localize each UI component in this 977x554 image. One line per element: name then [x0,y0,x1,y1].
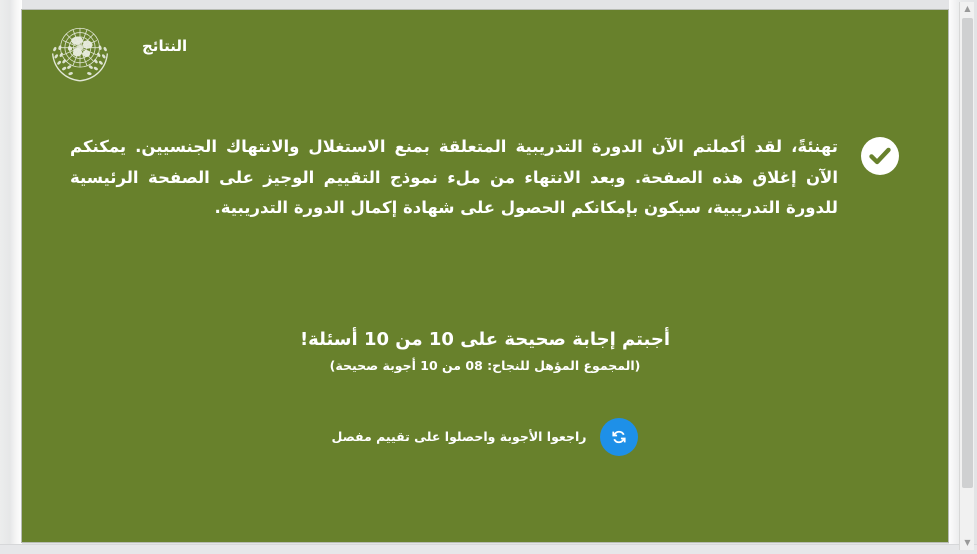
page-title: النتائج [142,37,187,55]
un-emblem-icon [44,16,116,88]
scroll-down-icon[interactable]: ▼ [960,536,975,550]
check-circle-icon [860,136,900,176]
message-body: تهنئةً، لقد أكملتم الآن الدورة التدريبية… [70,132,838,224]
vertical-scrollbar[interactable]: ▲ ▼ [959,2,974,550]
app-body: تهنئةً، لقد أكملتم الآن الدورة التدريبية… [22,132,948,456]
score-block: أجبتم إجابة صحيحة على 10 من 10 أسئلة! (ا… [70,326,900,376]
scrollbar-thumb[interactable] [962,18,973,488]
passing-score-note: (المجموع المؤهل للنجاح: 08 من 10 أجوبة ص… [70,357,900,376]
congratulation-message: تهنئةً، لقد أكملتم الآن الدورة التدريبية… [70,132,900,282]
review-answers-row: راجعوا الأجوبة واحصلوا على تقييم مفصل [70,418,900,456]
horizontal-scroll-gutter[interactable] [0,544,977,554]
left-gutter [0,0,22,554]
app-header: النتائج [22,10,948,102]
results-panel: النتائج تهنئةً، لقد أكملتم الآن الدورة ا… [21,9,949,543]
review-answers-link[interactable]: راجعوا الأجوبة واحصلوا على تقييم مفصل [332,429,587,444]
score-summary: أجبتم إجابة صحيحة على 10 من 10 أسئلة! [70,326,900,353]
scroll-up-icon[interactable]: ▲ [960,2,975,16]
refresh-icon-button[interactable] [600,418,638,456]
page-frame: النتائج تهنئةً، لقد أكملتم الآن الدورة ا… [0,0,977,554]
